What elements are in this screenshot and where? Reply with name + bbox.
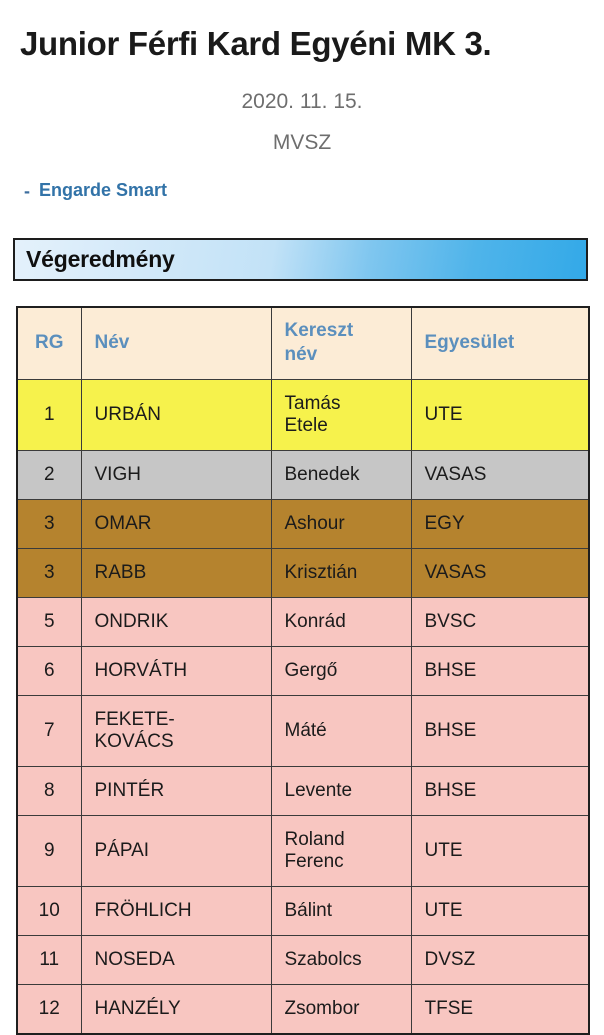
cell-lastname: HORVÁTH: [81, 646, 271, 695]
cell-firstname: Konrád: [271, 597, 411, 646]
results-table: RG Név Kereszt név Egyesület 1URBÁNTamás…: [16, 306, 590, 1035]
cell-lastname: VIGH: [81, 450, 271, 499]
cell-lastname: FEKETE-KOVÁCS: [81, 695, 271, 766]
section-title: Végeredmény: [15, 246, 175, 273]
cell-firstname: Ashour: [271, 499, 411, 548]
engarde-smart-link[interactable]: Engarde Smart: [39, 180, 167, 201]
cell-rank: 12: [17, 984, 81, 1034]
cell-rank: 3: [17, 499, 81, 548]
table-row[interactable]: 3RABBKrisztiánVASAS: [17, 548, 589, 597]
cell-firstname-line1: Tamás: [285, 393, 411, 415]
section-header-bar: Végeredmény: [13, 238, 588, 281]
cell-firstname: RolandFerenc: [271, 815, 411, 886]
table-row[interactable]: 8PINTÉRLeventeBHSE: [17, 766, 589, 815]
cell-lastname: RABB: [81, 548, 271, 597]
cell-rank: 5: [17, 597, 81, 646]
page-title: Junior Férfi Kard Egyéni MK 3.: [20, 26, 588, 62]
cell-lastname: PÁPAI: [81, 815, 271, 886]
cell-club: VASAS: [411, 450, 589, 499]
cell-firstname: TamásEtele: [271, 379, 411, 450]
column-header-firstname[interactable]: Kereszt név: [271, 307, 411, 379]
cell-lastname: PINTÉR: [81, 766, 271, 815]
cell-rank: 9: [17, 815, 81, 886]
table-row[interactable]: 10FRÖHLICHBálintUTE: [17, 886, 589, 935]
cell-club: BHSE: [411, 695, 589, 766]
column-header-lastname[interactable]: Név: [81, 307, 271, 379]
cell-rank: 1: [17, 379, 81, 450]
cell-firstname: Bálint: [271, 886, 411, 935]
cell-club: UTE: [411, 379, 589, 450]
table-row[interactable]: 3OMARAshourEGY: [17, 499, 589, 548]
cell-club: BHSE: [411, 766, 589, 815]
table-body: 1URBÁNTamásEteleUTE2VIGHBenedekVASAS3OMA…: [17, 379, 589, 1034]
cell-lastname-line2: KOVÁCS: [95, 731, 271, 753]
table-header: RG Név Kereszt név Egyesület: [17, 307, 589, 379]
table-row[interactable]: 1URBÁNTamásEteleUTE: [17, 379, 589, 450]
results-page: Junior Férfi Kard Egyéni MK 3. 2020. 11.…: [0, 0, 604, 960]
cell-firstname-line2: Etele: [285, 415, 411, 437]
table-header-row: RG Név Kereszt név Egyesület: [17, 307, 589, 379]
cell-club: TFSE: [411, 984, 589, 1034]
source-attribution: - Engarde Smart: [24, 180, 167, 201]
column-header-firstname-line1: Kereszt: [285, 319, 411, 343]
cell-club: UTE: [411, 815, 589, 886]
cell-lastname: HANZÉLY: [81, 984, 271, 1034]
cell-club: UTE: [411, 886, 589, 935]
cell-lastname-line1: FEKETE-: [95, 709, 271, 731]
cell-firstname: Benedek: [271, 450, 411, 499]
cell-firstname: Máté: [271, 695, 411, 766]
cell-firstname-line2: Ferenc: [285, 851, 411, 873]
table-row[interactable]: 9PÁPAIRolandFerencUTE: [17, 815, 589, 886]
table-row[interactable]: 6HORVÁTHGergőBHSE: [17, 646, 589, 695]
cell-firstname-line1: Roland: [285, 829, 411, 851]
cell-lastname: FRÖHLICH: [81, 886, 271, 935]
table-row[interactable]: 12HANZÉLYZsomborTFSE: [17, 984, 589, 1034]
cell-club: VASAS: [411, 548, 589, 597]
cell-firstname: Levente: [271, 766, 411, 815]
event-date: 2020. 11. 15.: [0, 90, 604, 114]
cell-lastname: URBÁN: [81, 379, 271, 450]
column-header-club[interactable]: Egyesület: [411, 307, 589, 379]
cell-rank: 10: [17, 886, 81, 935]
table-row[interactable]: 2VIGHBenedekVASAS: [17, 450, 589, 499]
cell-firstname: Zsombor: [271, 984, 411, 1034]
column-header-rank[interactable]: RG: [17, 307, 81, 379]
cell-rank: 8: [17, 766, 81, 815]
cell-firstname: Krisztián: [271, 548, 411, 597]
cell-lastname: ONDRIK: [81, 597, 271, 646]
organization-name: MVSZ: [0, 131, 604, 155]
table-row[interactable]: 5ONDRIKKonrádBVSC: [17, 597, 589, 646]
cell-club: EGY: [411, 499, 589, 548]
table-row[interactable]: 7FEKETE-KOVÁCSMátéBHSE: [17, 695, 589, 766]
cell-rank: 7: [17, 695, 81, 766]
cell-rank: 6: [17, 646, 81, 695]
column-header-firstname-line2: név: [285, 343, 411, 367]
cell-firstname: Gergő: [271, 646, 411, 695]
cell-rank: 2: [17, 450, 81, 499]
bullet-dash-icon: -: [24, 182, 30, 200]
cell-club: BHSE: [411, 646, 589, 695]
cell-lastname: OMAR: [81, 499, 271, 548]
cell-rank: 3: [17, 548, 81, 597]
cell-club: BVSC: [411, 597, 589, 646]
